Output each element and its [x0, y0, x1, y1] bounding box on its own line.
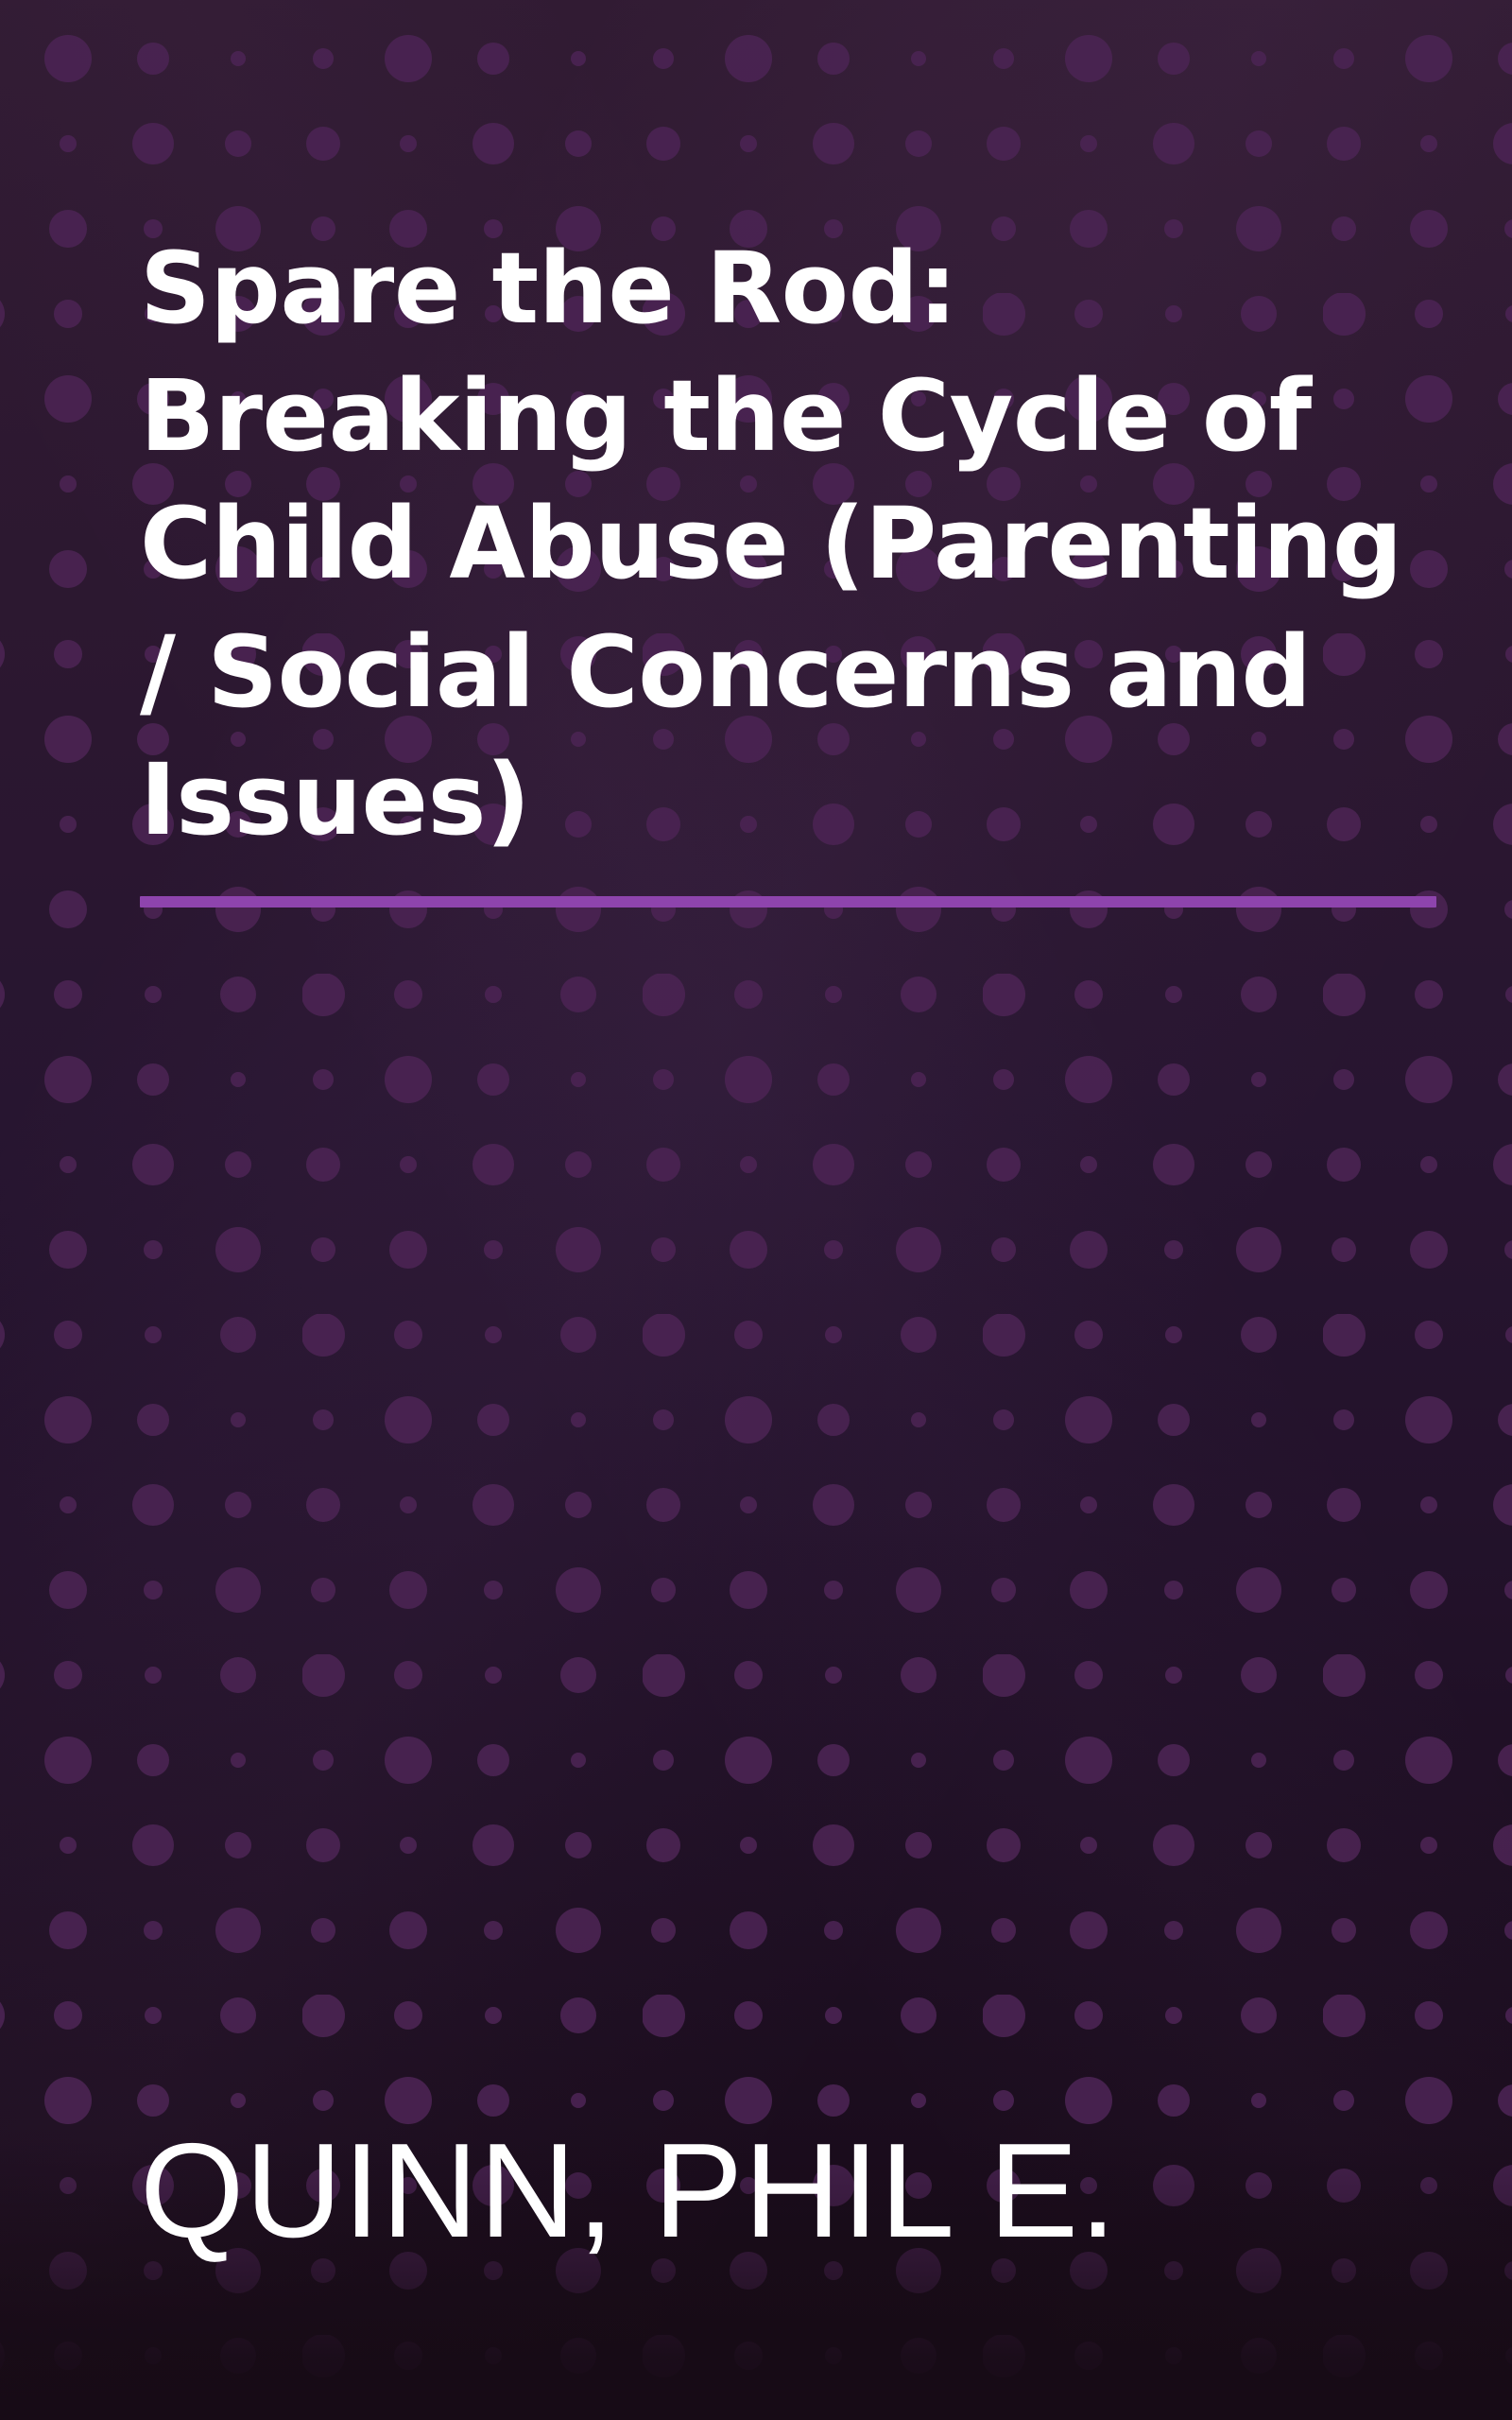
author-block: QUINN, PHIL E.: [0, 2121, 1512, 2420]
cover-content: Spare the Rod: Breaking the Cycle of Chi…: [0, 0, 1512, 2420]
title-block: Spare the Rod: Breaking the Cycle of Chi…: [0, 0, 1512, 907]
book-author: QUINN, PHIL E.: [140, 2121, 1436, 2261]
book-title: Spare the Rod: Breaking the Cycle of Chi…: [140, 225, 1435, 864]
title-divider-rule: [140, 896, 1436, 907]
book-cover: Spare the Rod: Breaking the Cycle of Chi…: [0, 0, 1512, 2420]
